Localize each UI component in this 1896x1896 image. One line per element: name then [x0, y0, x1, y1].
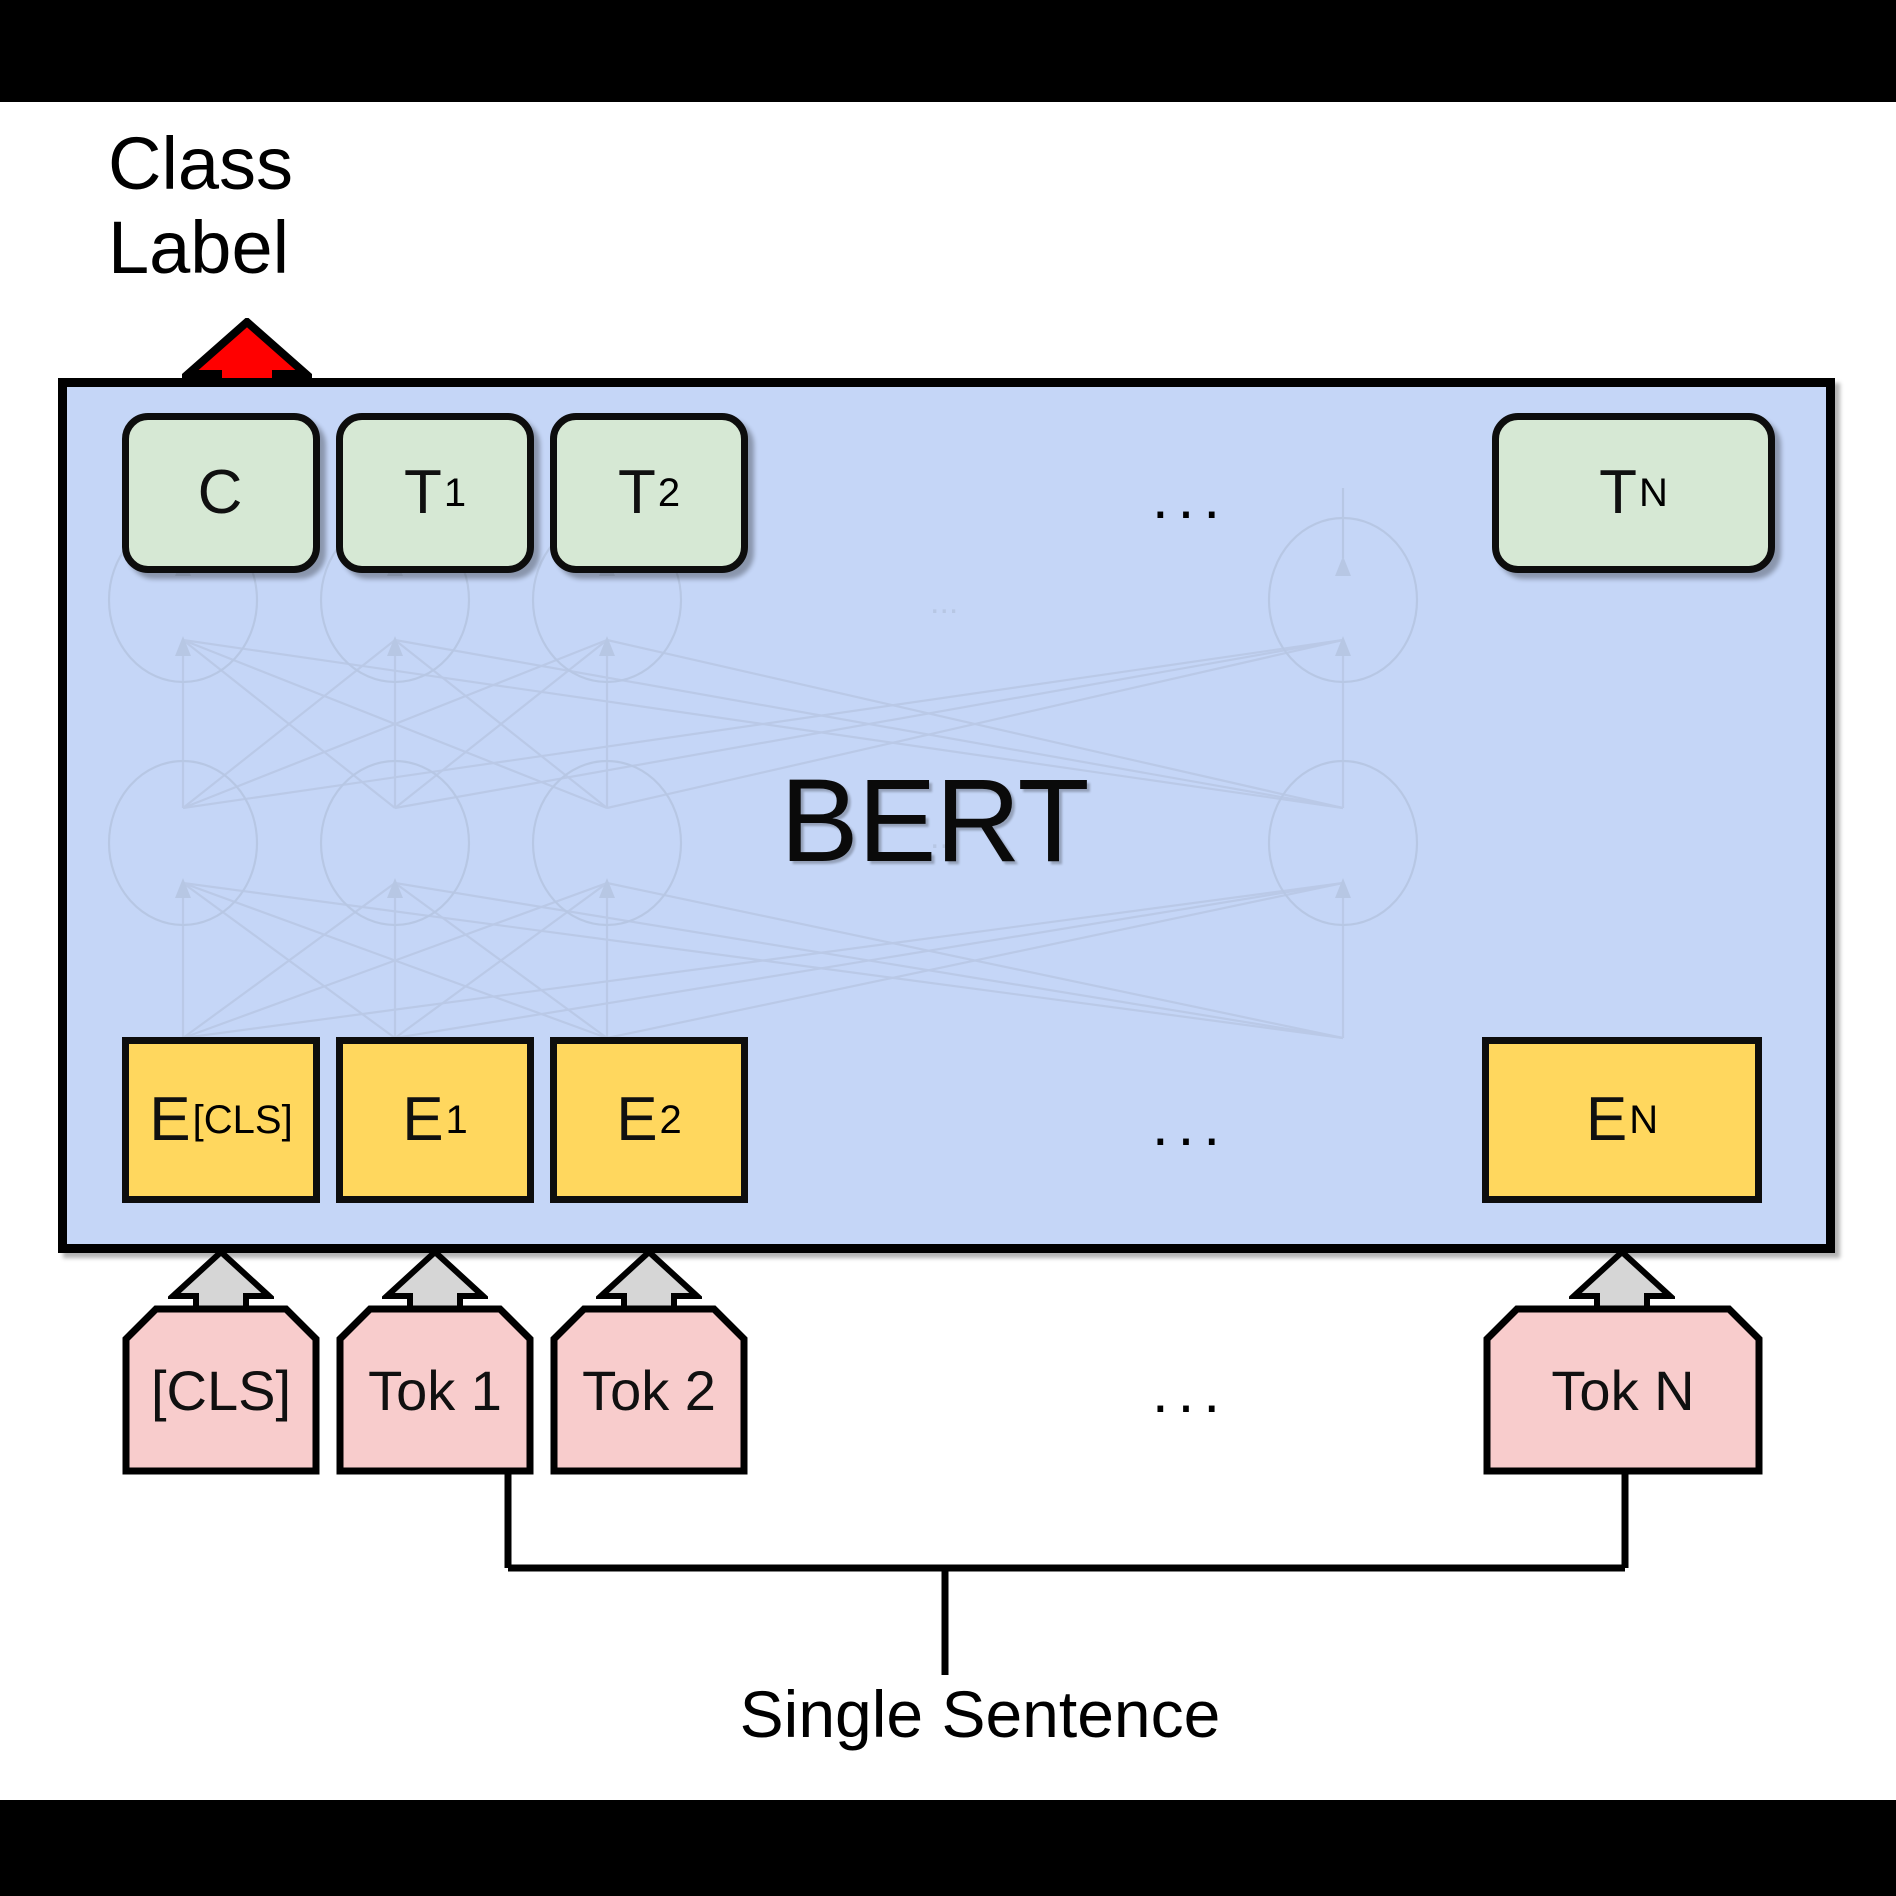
embedding-box-e2-subscript: 2: [660, 1100, 682, 1140]
output-box-t1-label: T: [404, 462, 442, 524]
embedding-box-e2-label: E: [616, 1089, 657, 1151]
input-token-cls-label: [CLS]: [122, 1305, 320, 1475]
class-label-text: Class Label: [108, 122, 293, 290]
embedding-box-en-subscript: N: [1629, 1100, 1658, 1140]
output-box-t2-label: T: [618, 462, 656, 524]
output-box-tn-subscript: N: [1639, 473, 1668, 513]
embedding-box-e2[interactable]: E2: [550, 1037, 748, 1203]
diagram-canvas: Class Label: [0, 0, 1896, 1896]
embedding-box-e1[interactable]: E1: [336, 1037, 534, 1203]
output-box-t2[interactable]: T2: [550, 413, 748, 573]
embedding-box-e1-subscript: 1: [446, 1100, 468, 1140]
input-token-n[interactable]: Tok N: [1483, 1305, 1763, 1475]
output-box-tn[interactable]: TN: [1492, 413, 1775, 573]
input-token-1[interactable]: Tok 1: [336, 1305, 534, 1475]
output-box-t2-subscript: 2: [658, 473, 680, 513]
input-token-2[interactable]: Tok 2: [550, 1305, 748, 1475]
output-box-tn-label: T: [1599, 462, 1637, 524]
input-token-2-label: Tok 2: [550, 1305, 748, 1475]
output-box-t1[interactable]: T1: [336, 413, 534, 573]
top-black-band: [0, 0, 1896, 102]
input-token-1-label: Tok 1: [336, 1305, 534, 1475]
input-token-n-label: Tok N: [1483, 1305, 1763, 1475]
single-sentence-caption: Single Sentence: [560, 1678, 1400, 1750]
output-box-cls-label: C: [198, 462, 243, 524]
class-label-line1: Class: [108, 122, 293, 206]
input-token-cls[interactable]: [CLS]: [122, 1305, 320, 1475]
embedding-box-cls-label: E: [149, 1089, 190, 1151]
embedding-box-en-label: E: [1586, 1089, 1627, 1151]
embedding-box-cls-subscript: [CLS]: [193, 1100, 293, 1140]
single-sentence-bracket: [470, 1470, 1670, 1830]
class-label-line2: Label: [108, 206, 293, 290]
output-row-ellipsis: ...: [1152, 468, 1229, 528]
embedding-box-en[interactable]: EN: [1482, 1037, 1762, 1203]
embedding-row-ellipsis: ...: [1152, 1095, 1229, 1155]
output-box-t1-subscript: 1: [444, 473, 466, 513]
embedding-box-e1-label: E: [402, 1089, 443, 1151]
output-box-cls[interactable]: C: [122, 413, 320, 573]
bert-wordmark: BERT: [780, 762, 1089, 880]
input-row-ellipsis: ...: [1152, 1362, 1229, 1422]
embedding-box-cls[interactable]: E[CLS]: [122, 1037, 320, 1203]
